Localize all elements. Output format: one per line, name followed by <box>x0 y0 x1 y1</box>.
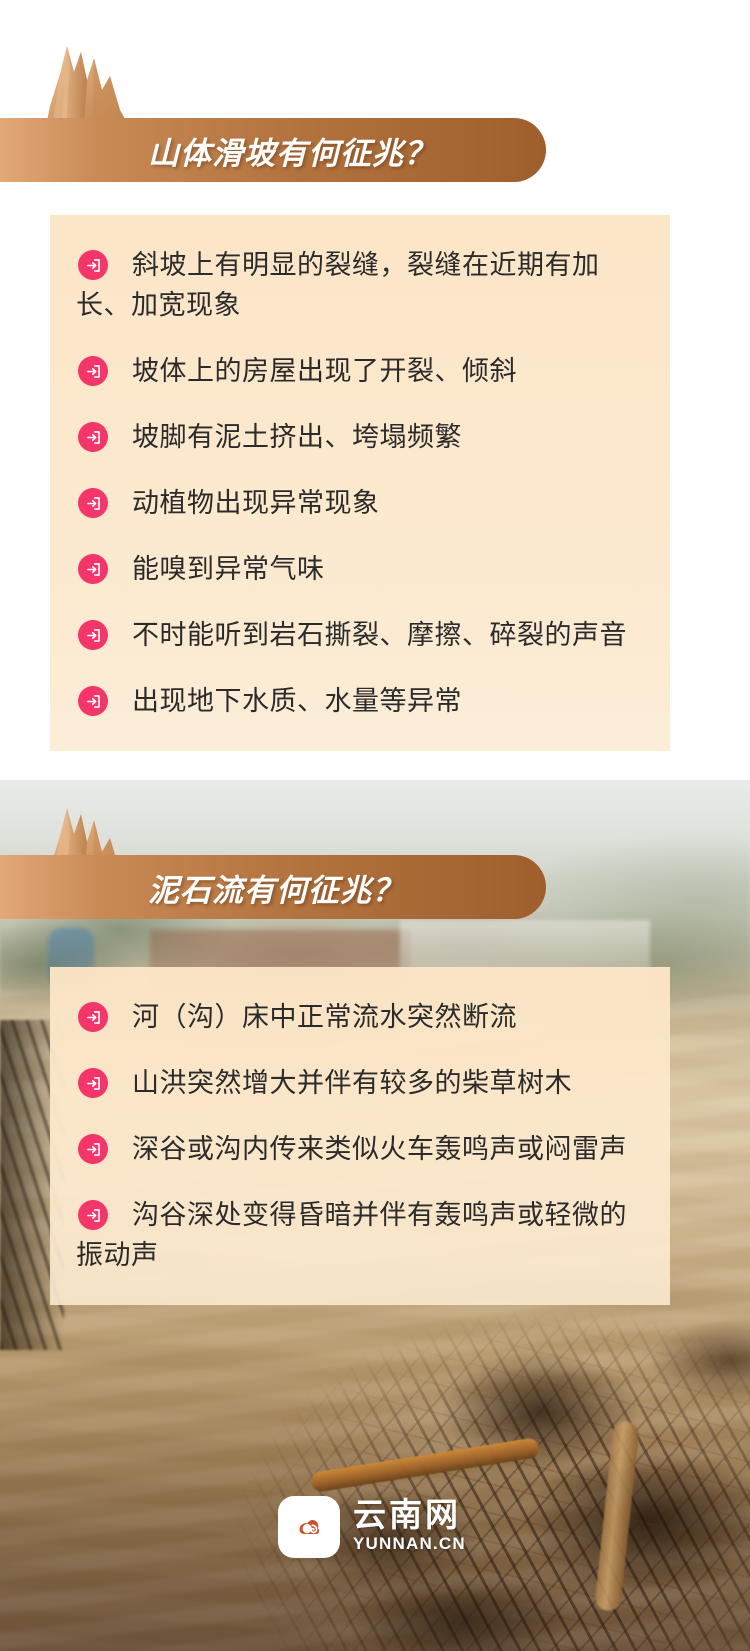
section-header-landslide: 山体滑坡有何征兆？ <box>0 118 546 182</box>
list-item-text: 动植物出现异常现象 <box>132 488 380 518</box>
enter-arrow-icon <box>78 488 108 518</box>
enter-arrow-icon <box>78 620 108 650</box>
enter-arrow-icon <box>78 250 108 280</box>
enter-arrow-icon <box>78 1134 108 1164</box>
list-item: 坡体上的房屋出现了开裂、倾斜 <box>76 351 644 391</box>
section-title: 泥石流有何征兆？ <box>148 865 404 910</box>
list-item: 坡脚有泥土挤出、垮塌频繁 <box>76 417 644 457</box>
landslide-signs-list: 斜坡上有明显的裂缝，裂缝在近期有加长、加宽现象 坡体上的房屋出现了开裂、倾斜 <box>76 245 644 721</box>
list-item-text: 沟谷深处变得昏暗并伴有轰鸣声或轻微的振动声 <box>76 1200 627 1270</box>
list-item: 深谷或沟内传来类似火车轰鸣声或闷雷声 <box>76 1129 644 1169</box>
list-item: 沟谷深处变得昏暗并伴有轰鸣声或轻微的振动声 <box>76 1195 644 1275</box>
list-item-text: 深谷或沟内传来类似火车轰鸣声或闷雷声 <box>132 1134 627 1164</box>
list-item-text: 不时能听到岩石撕裂、摩擦、碎裂的声音 <box>132 620 627 650</box>
enter-arrow-icon <box>78 422 108 452</box>
debris-flow-signs-list: 河（沟）床中正常流水突然断流 山洪突然增大并伴有较多的柴草树木 <box>76 997 644 1275</box>
list-item-text: 坡体上的房屋出现了开裂、倾斜 <box>132 356 517 386</box>
list-item-text: 斜坡上有明显的裂缝，裂缝在近期有加长、加宽现象 <box>76 250 600 320</box>
infographic-poster: 山体滑坡有何征兆？ 斜坡上有明显的裂缝，裂缝在近期有加长、加宽现象 <box>0 0 750 1651</box>
section-title: 山体滑坡有何征兆？ <box>148 128 436 173</box>
list-item: 斜坡上有明显的裂缝，裂缝在近期有加长、加宽现象 <box>76 245 644 325</box>
list-item-text: 坡脚有泥土挤出、垮塌频繁 <box>132 422 462 452</box>
enter-arrow-icon <box>78 356 108 386</box>
logo-text-block: 云南网 YUNNAN.CN <box>353 1494 466 1554</box>
list-item: 能嗅到异常气味 <box>76 549 644 589</box>
yunnan-cloud-logo-icon <box>278 1496 340 1558</box>
list-item: 河（沟）床中正常流水突然断流 <box>76 997 644 1037</box>
logo-name-cn: 云南网 <box>353 1496 466 1534</box>
list-item-text: 河（沟）床中正常流水突然断流 <box>132 1002 517 1032</box>
debris-flow-signs-card: 河（沟）床中正常流水突然断流 山洪突然增大并伴有较多的柴草树木 <box>50 967 670 1305</box>
list-item: 不时能听到岩石撕裂、摩擦、碎裂的声音 <box>76 615 644 655</box>
list-item: 山洪突然增大并伴有较多的柴草树木 <box>76 1063 644 1103</box>
enter-arrow-icon <box>78 1002 108 1032</box>
enter-arrow-icon <box>78 1068 108 1098</box>
enter-arrow-icon <box>78 1200 108 1230</box>
list-item-text: 出现地下水质、水量等异常 <box>132 686 462 716</box>
enter-arrow-icon <box>78 686 108 716</box>
list-item-text: 能嗅到异常气味 <box>132 554 325 584</box>
list-item-text: 山洪突然增大并伴有较多的柴草树木 <box>132 1068 572 1098</box>
landslide-signs-card: 斜坡上有明显的裂缝，裂缝在近期有加长、加宽现象 坡体上的房屋出现了开裂、倾斜 <box>50 215 670 751</box>
enter-arrow-icon <box>78 554 108 584</box>
list-item: 动植物出现异常现象 <box>76 483 644 523</box>
yunnan-net-logo: 云南网 YUNNAN.CN <box>278 1494 478 1570</box>
section-header-debris-flow: 泥石流有何征兆？ <box>0 855 546 919</box>
logo-name-en: YUNNAN.CN <box>353 1534 466 1554</box>
list-item: 出现地下水质、水量等异常 <box>76 681 644 721</box>
